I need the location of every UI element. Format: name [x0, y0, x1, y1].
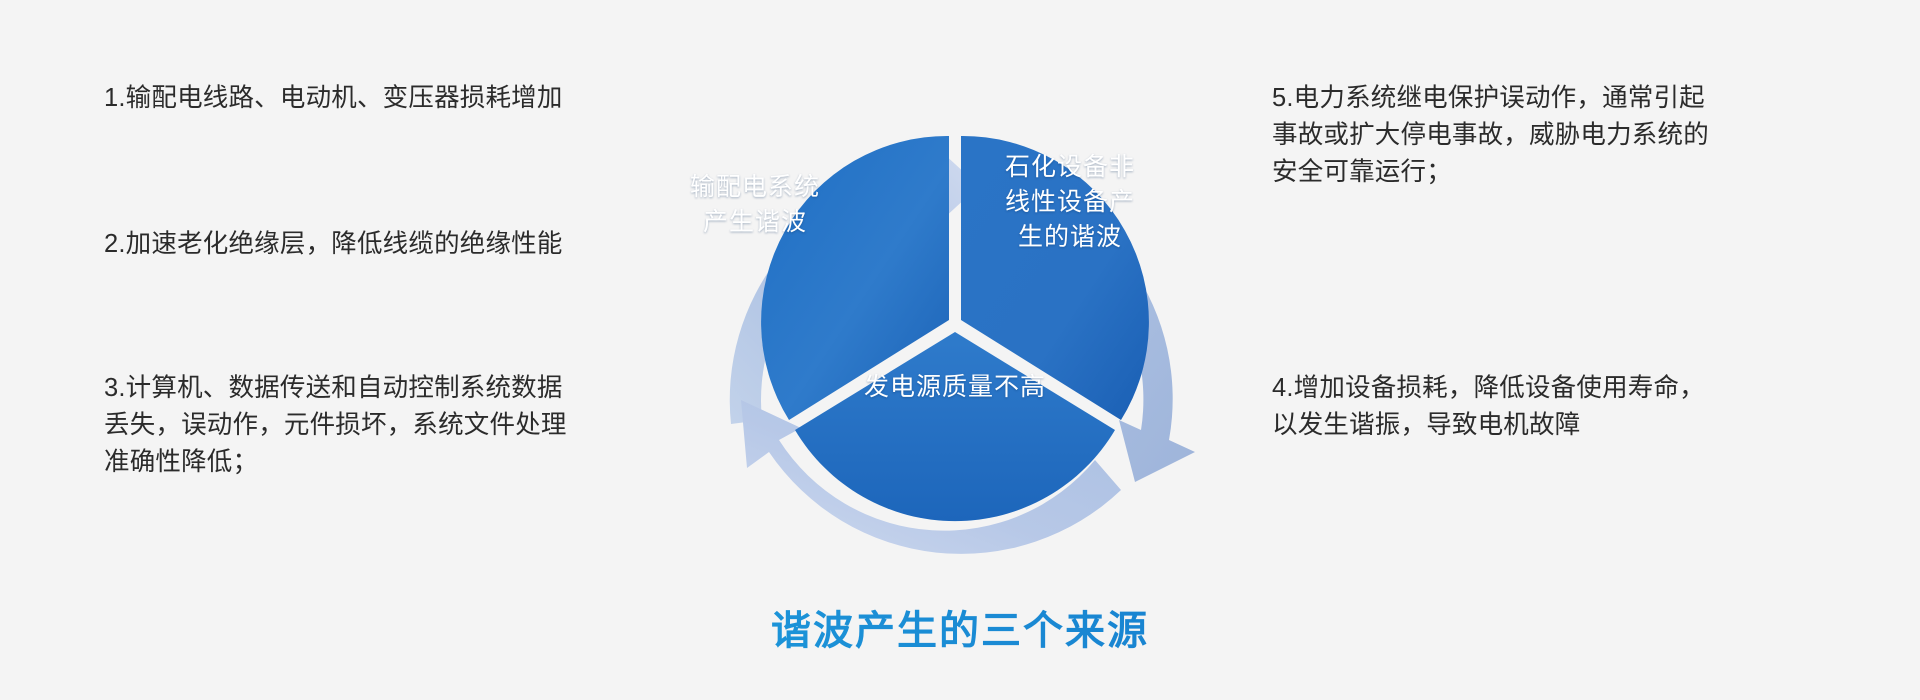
cycle-diagram-graphic	[555, 20, 1355, 580]
cycle-diagram: 输配电系统 产生谐波 石化设备非 线性设备产 生的谐波 发电源质量不高	[555, 20, 1355, 580]
cycle-segment-label-bottom: 发电源质量不高	[805, 370, 1105, 405]
bullet-item-2: 2.加速老化绝缘层，降低线缆的绝缘性能	[104, 226, 563, 263]
page-title: 谐波产生的三个来源	[0, 598, 1920, 656]
infographic-canvas: 1.输配电线路、电动机、变压器损耗增加 2.加速老化绝缘层，降低线缆的绝缘性能 …	[0, 0, 1920, 700]
bullet-item-3: 3.计算机、数据传送和自动控制系统数据 丢失，误动作，元件损坏，系统文件处理 准…	[104, 370, 567, 481]
cycle-segment-label-left: 输配电系统 产生谐波	[650, 170, 860, 240]
cycle-segment-label-right: 石化设备非 线性设备产 生的谐波	[970, 150, 1170, 255]
bullet-item-1: 1.输配电线路、电动机、变压器损耗增加	[104, 80, 563, 117]
